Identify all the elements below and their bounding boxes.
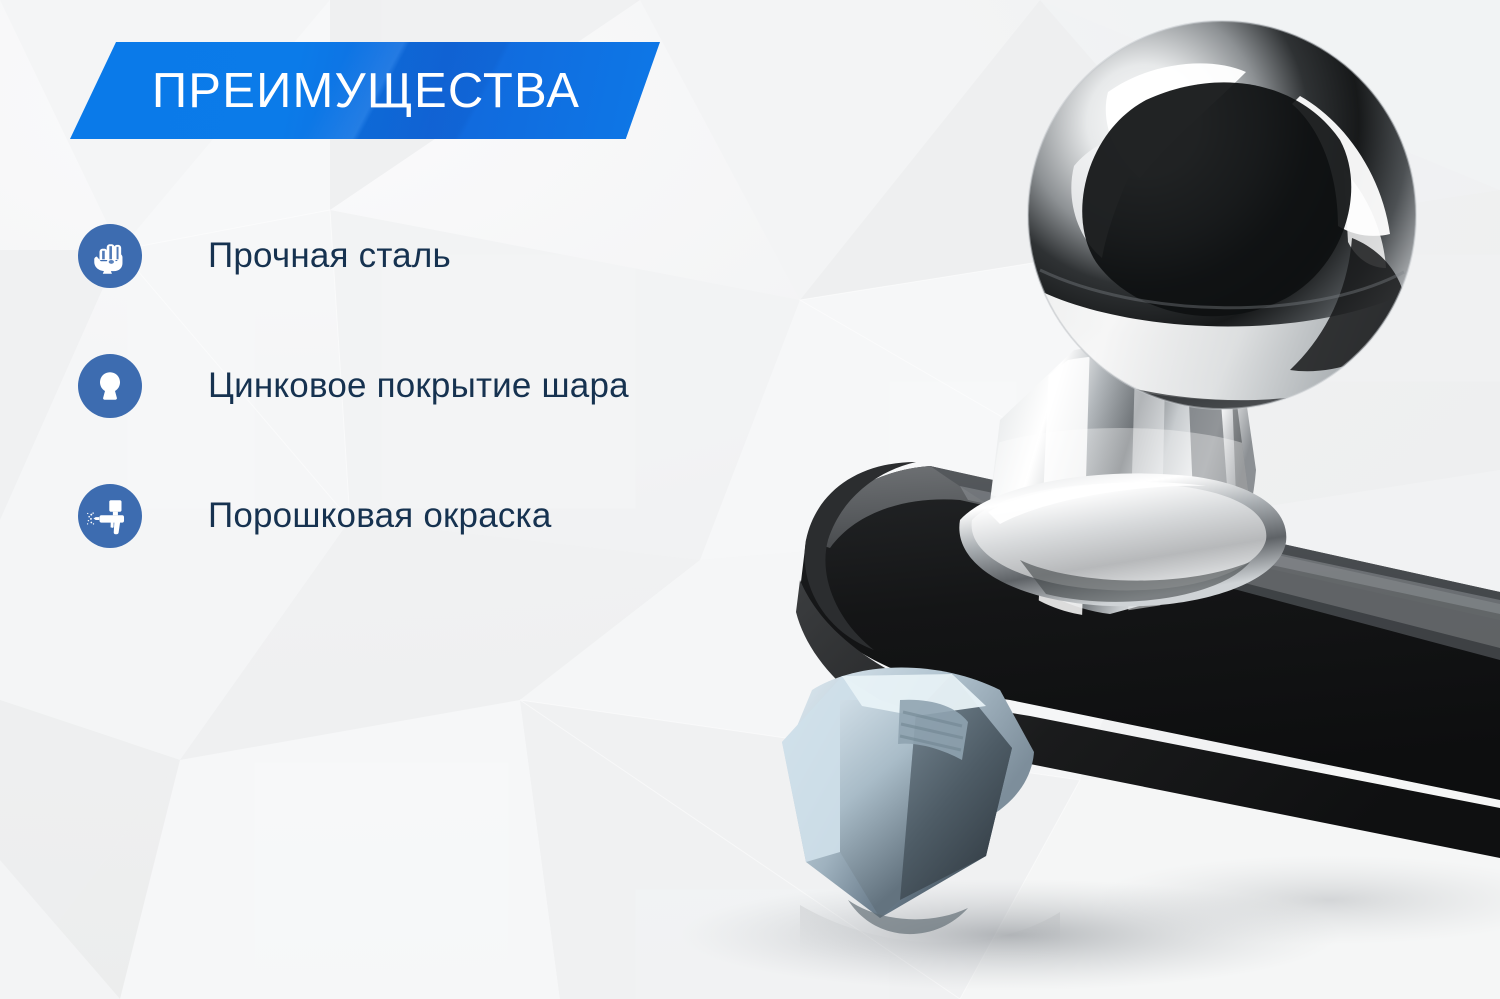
advantages-banner: ПРЕИМУЩЕСТВА <box>70 42 660 139</box>
spray-gun-icon <box>78 484 142 548</box>
feature-item-zinc-coating: Цинковое покрытие шара <box>78 346 838 476</box>
keyhole-icon <box>78 354 142 418</box>
feature-label: Цинковое покрытие шара <box>208 346 629 426</box>
poster-canvas: ПРЕИМУЩЕСТВА <box>0 0 1500 999</box>
feature-label: Прочная сталь <box>208 216 451 296</box>
banner-title: ПРЕИМУЩЕСТВА <box>70 42 660 139</box>
feature-item-powder-coating: Порошковая окраска <box>78 476 838 606</box>
feature-label: Порошковая окраска <box>208 476 552 556</box>
fist-icon <box>78 224 142 288</box>
advantages-list: Прочная сталь Цинковое покрытие шара <box>78 216 838 606</box>
feature-item-strong-steel: Прочная сталь <box>78 216 838 346</box>
